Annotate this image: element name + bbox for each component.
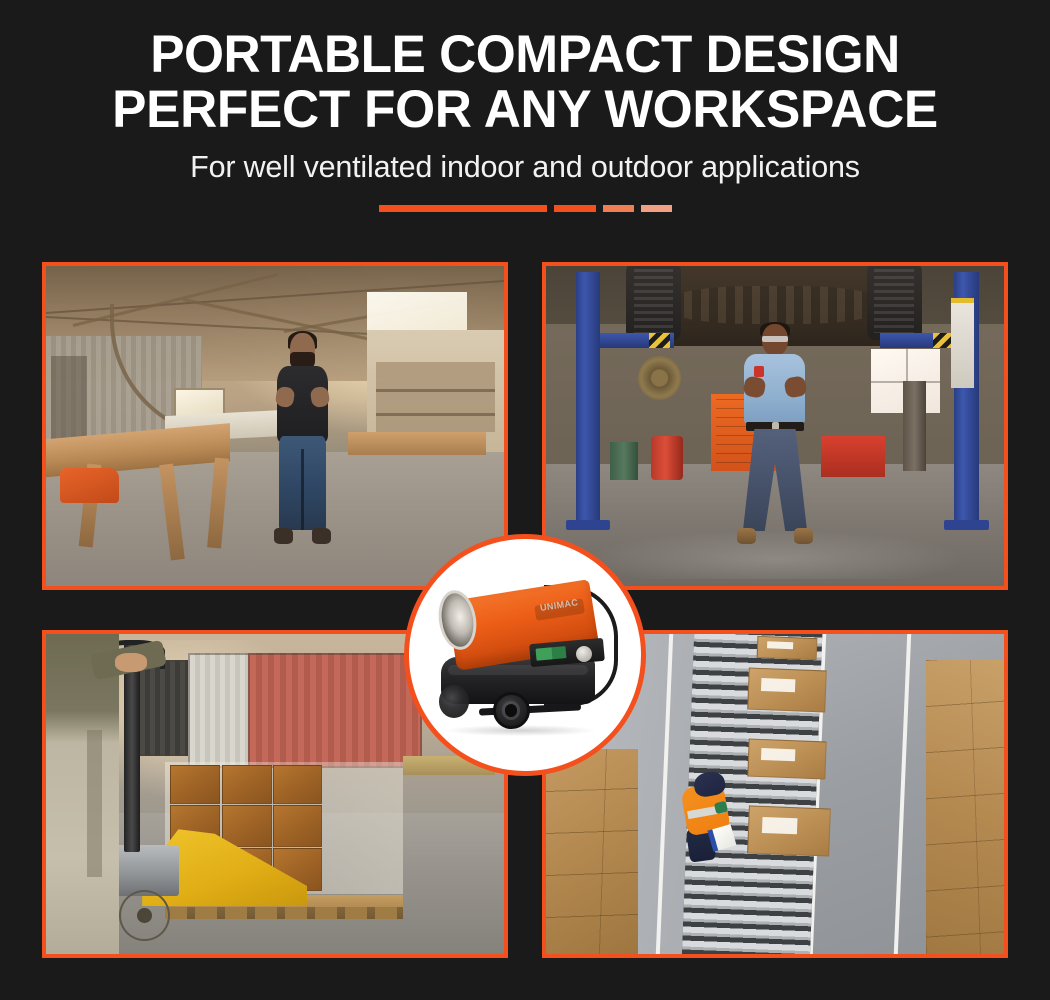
photo-gallery xyxy=(0,0,1050,1000)
parcel-on-conveyor xyxy=(747,738,826,779)
warehouse-box-stack-right xyxy=(926,660,1004,954)
carton xyxy=(222,805,272,846)
lift-post-left xyxy=(576,272,601,525)
garage-drill-press xyxy=(903,381,926,471)
carton xyxy=(170,765,220,804)
carpenter-boot-right xyxy=(312,528,331,544)
carton xyxy=(222,765,272,804)
lift-arm-left xyxy=(596,333,674,347)
workshop-storage-rack xyxy=(51,356,88,439)
garage-flywheel xyxy=(638,356,682,401)
workshop-tool-shelf xyxy=(376,362,495,432)
mechanic-boot-right xyxy=(794,528,813,544)
product-heater-image: UNIMAC xyxy=(409,539,641,771)
shipping-container-red xyxy=(248,653,422,768)
person-carpenter xyxy=(268,333,337,557)
shipping-container-white xyxy=(188,653,257,768)
person-warehouse-worker xyxy=(679,768,739,861)
person-mechanic xyxy=(734,324,816,558)
garage-scene xyxy=(546,266,1004,586)
workshop-scene xyxy=(46,266,504,586)
shipping-container-dark xyxy=(138,660,193,756)
parcel-on-conveyor xyxy=(747,805,831,856)
parcel-on-conveyor xyxy=(756,636,816,661)
garage-red-drum xyxy=(651,436,683,481)
carpenter-boot-left xyxy=(274,528,293,544)
workshop-back-bench xyxy=(348,432,485,454)
lift-arm-right xyxy=(880,333,958,347)
car-tire-left xyxy=(626,266,681,340)
person-dock-worker xyxy=(46,634,119,954)
car-tire-right xyxy=(867,266,922,340)
dock-worker-hand xyxy=(115,653,147,672)
pallet-jack-steer-wheel xyxy=(119,890,169,941)
workshop-table-saw xyxy=(60,468,120,503)
product-shadow xyxy=(446,725,594,737)
garage-wall-panel xyxy=(951,298,974,388)
heater-wheel-rear xyxy=(439,685,469,717)
garage-red-tool-cart xyxy=(821,436,885,478)
mechanic-name-patch xyxy=(754,366,764,378)
carpenter-jeans xyxy=(279,436,326,530)
pallet-jack-pump-body xyxy=(115,845,179,896)
garage-green-drum xyxy=(610,442,637,480)
product-badge: UNIMAC xyxy=(404,534,646,776)
mechanic-boot-left xyxy=(737,528,756,544)
carton xyxy=(273,805,322,846)
product-brand-mark: UNIMAC xyxy=(537,597,583,624)
mechanic-work-trousers xyxy=(743,429,807,532)
parcel-on-conveyor xyxy=(747,668,826,713)
carton xyxy=(273,765,322,804)
warehouse-box-stack-left xyxy=(546,749,638,954)
mechanic-safety-glasses-icon xyxy=(762,336,788,341)
